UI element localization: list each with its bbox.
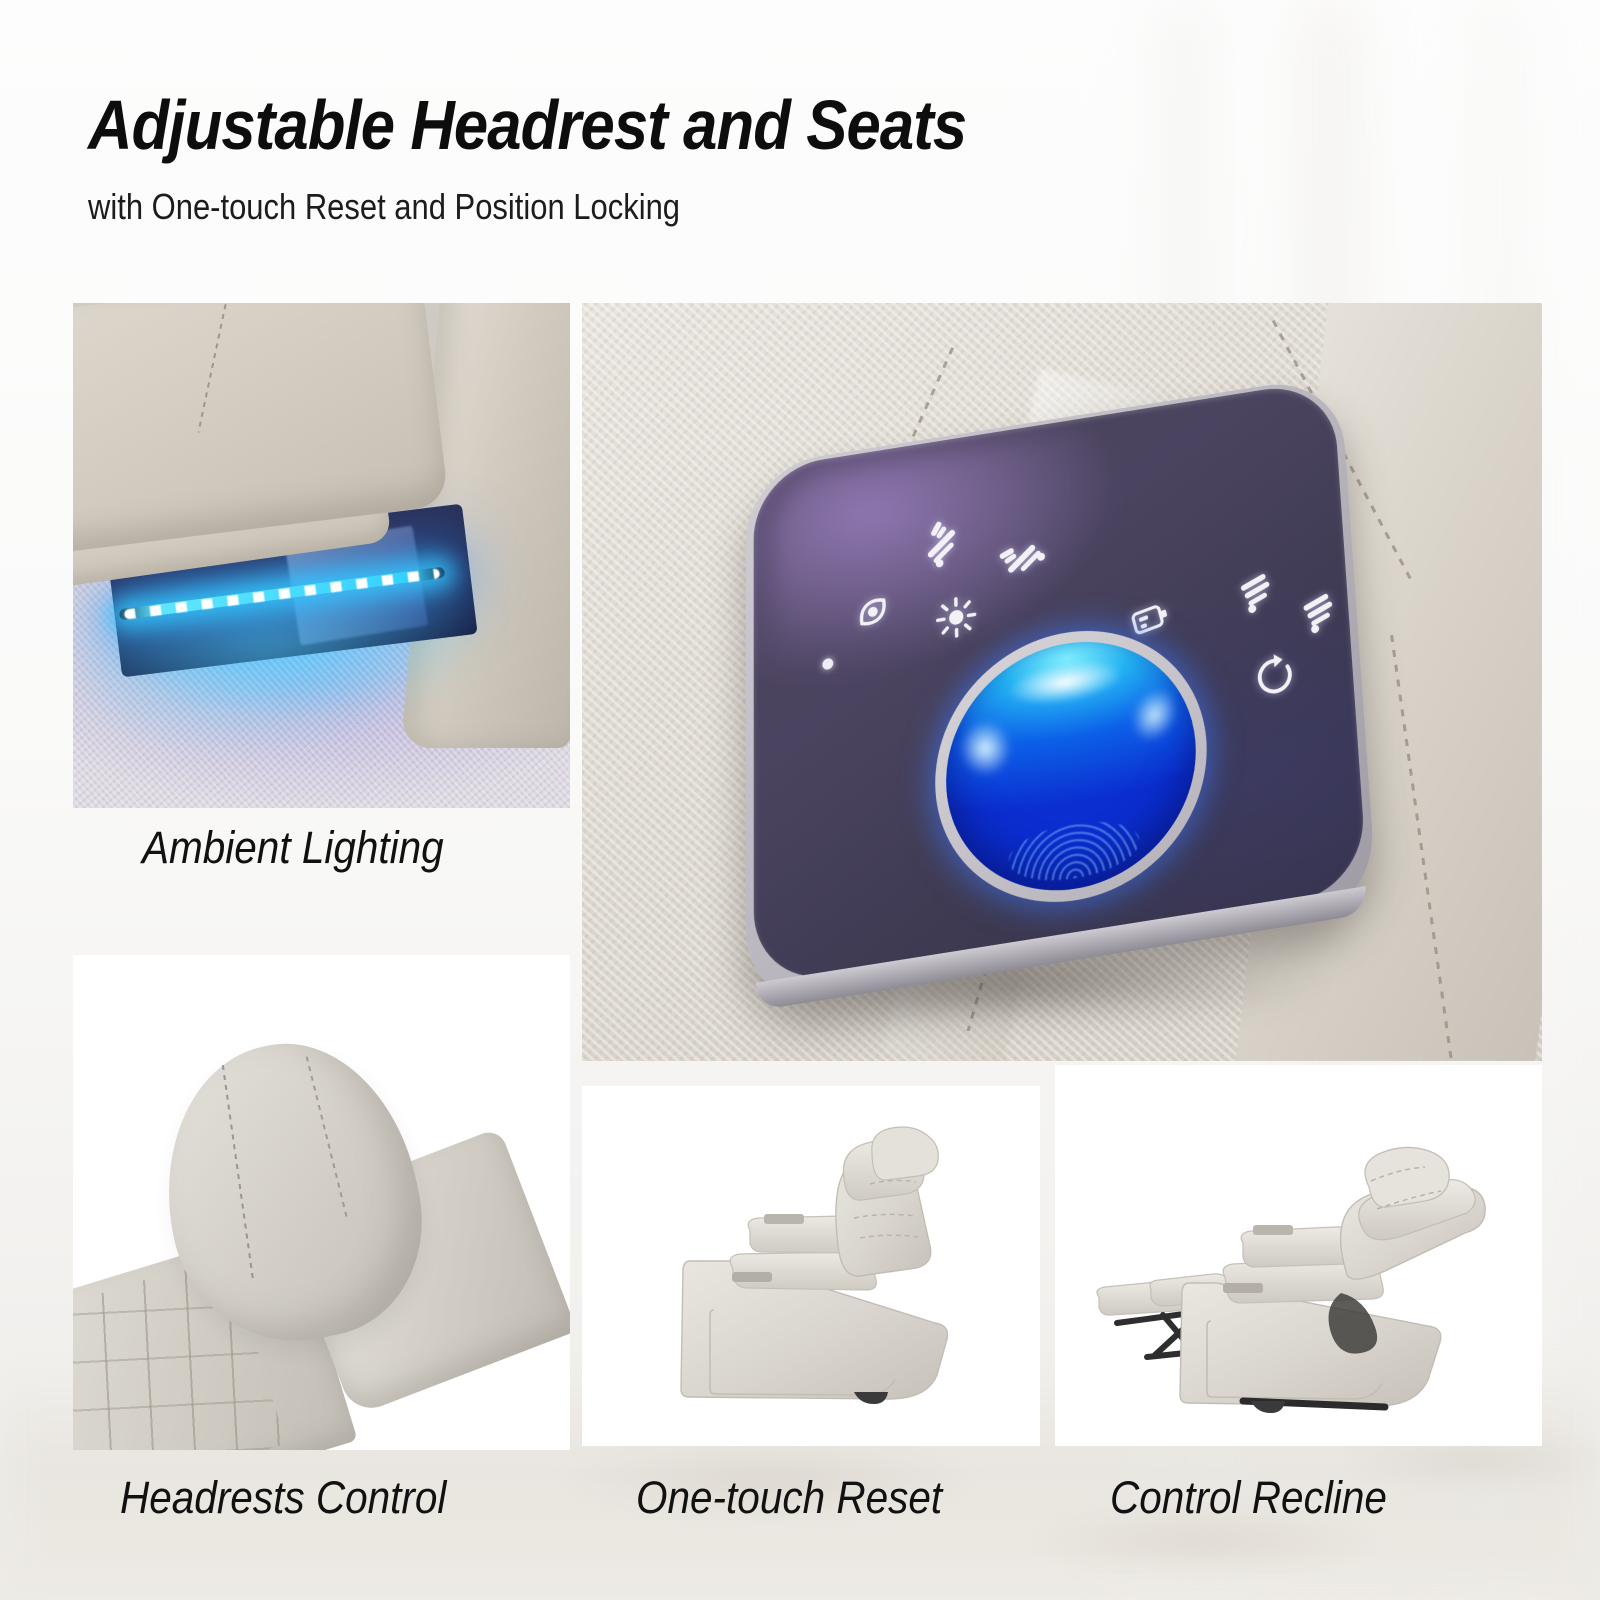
footrest-adjust-icon[interactable] xyxy=(1291,579,1348,641)
touch-control-panel[interactable] xyxy=(746,374,1378,1012)
panel-face xyxy=(754,379,1368,988)
header: Adjustable Headrest and Seats with One-t… xyxy=(88,88,1288,228)
recliner-upright-silhouette xyxy=(582,1086,1040,1446)
page-subtitle: with One-touch Reset and Position Lockin… xyxy=(88,186,1120,228)
caption-one-touch-reset: One-touch Reset xyxy=(636,1472,942,1524)
ambient-light-icon[interactable] xyxy=(931,589,981,646)
photo-control-console xyxy=(582,303,1542,1061)
photo-headrests-control xyxy=(73,955,570,1450)
illuminated-cup-holder xyxy=(932,612,1213,922)
photo-one-touch-reset xyxy=(582,1086,1040,1446)
recliner-reclined-silhouette xyxy=(1055,1065,1542,1446)
massage-power-icon[interactable] xyxy=(847,582,898,641)
headrest-adjust-icon[interactable] xyxy=(1229,559,1285,621)
photo-ambient-lighting xyxy=(73,303,570,808)
cup-highlight xyxy=(949,709,1021,787)
recline-backrest-icon[interactable] xyxy=(914,511,970,574)
cup-holder-base xyxy=(1008,813,1141,889)
caption-control-recline: Control Recline xyxy=(1110,1472,1387,1524)
cup-highlight xyxy=(1122,682,1185,748)
caption-headrests-control: Headrests Control xyxy=(120,1472,446,1524)
page-title: Adjustable Headrest and Seats xyxy=(88,88,1144,164)
caption-ambient-lighting: Ambient Lighting xyxy=(142,822,444,874)
cup-highlight xyxy=(1008,654,1123,710)
cup-holder-light xyxy=(944,624,1202,909)
reset-icon[interactable] xyxy=(1248,646,1303,706)
photo-control-recline xyxy=(1055,1065,1542,1446)
recline-backrest-2-icon[interactable] xyxy=(992,528,1048,591)
